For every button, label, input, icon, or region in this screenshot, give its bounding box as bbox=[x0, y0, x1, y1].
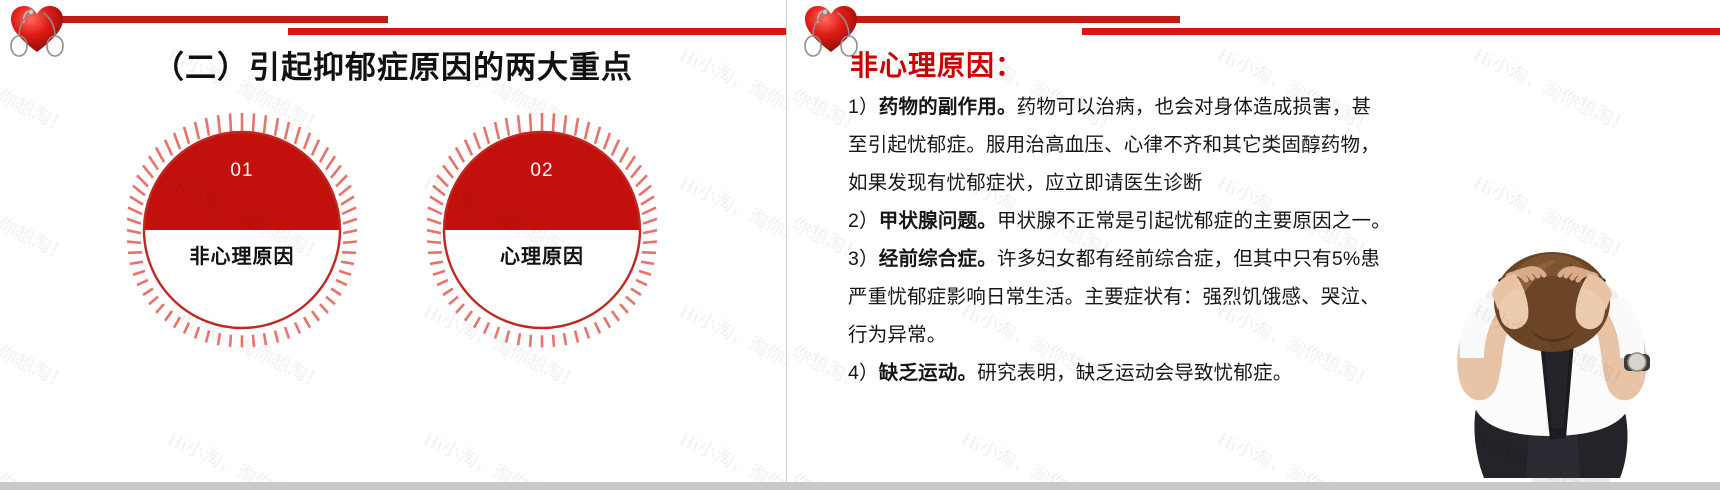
body-text-run: 药物可以治病，也会对身体造成损害，甚 bbox=[1017, 96, 1372, 118]
watermark-text: Hi小淘，淘你想淘！ bbox=[1214, 424, 1380, 482]
watermark-text: Hi小淘，淘你想淘！ bbox=[676, 424, 786, 482]
list-marker: 3） bbox=[848, 248, 879, 270]
watermark-text: Hi小淘，淘你想淘！ bbox=[676, 296, 786, 395]
circle-02-label: 心理原因 bbox=[412, 240, 672, 269]
circle-card-01[interactable]: 01 非心理原因 bbox=[112, 108, 372, 368]
stressed-man-photo bbox=[1380, 230, 1720, 482]
circle-01-graphic bbox=[112, 108, 372, 368]
watermark-text: Hi小淘，淘你想淘！ bbox=[0, 168, 74, 267]
body-line: 如果发现有忧郁症状，应立即请医生诊断 bbox=[848, 164, 1488, 202]
page-title: （二）引起抑郁症原因的两大重点 bbox=[0, 42, 786, 87]
slide-left: （二）引起抑郁症原因的两大重点 bbox=[0, 0, 786, 482]
header-bar-bottom bbox=[288, 28, 786, 35]
body-text-run: 行为异常。 bbox=[848, 324, 947, 346]
list-marker: 2） bbox=[848, 210, 879, 232]
slide-pair-view: （二）引起抑郁症原因的两大重点 bbox=[0, 0, 1720, 490]
emphasis-text: 甲状腺问题。 bbox=[879, 210, 997, 232]
list-marker: 4） bbox=[848, 362, 879, 384]
body-text-run: 如果发现有忧郁症状，应立即请医生诊断 bbox=[848, 172, 1203, 194]
circle-02-graphic bbox=[412, 108, 672, 368]
body-text-run: 甲状腺不正常是引起忧郁症的主要原因之一。 bbox=[997, 210, 1391, 232]
circle-01-label: 非心理原因 bbox=[112, 240, 372, 269]
body-text-run: 至引起忧郁症。服用治高血压、心律不齐和其它类固醇药物， bbox=[848, 134, 1380, 156]
watermark-text: Hi小淘，淘你想淘！ bbox=[794, 424, 868, 482]
emphasis-text: 经前综合症。 bbox=[879, 248, 997, 270]
body-line: 至引起忧郁症。服用治高血压、心律不齐和其它类固醇药物， bbox=[848, 126, 1488, 164]
watermark-text: Hi小淘，淘你想淘！ bbox=[420, 424, 586, 482]
body-text-run: 许多妇女都有经前综合症，但其中只有5%患 bbox=[997, 248, 1380, 270]
watermark-text: Hi小淘，淘你想淘！ bbox=[0, 296, 74, 395]
list-marker: 1） bbox=[848, 96, 879, 118]
header-bar-top bbox=[58, 16, 388, 23]
bottom-rule bbox=[0, 482, 1720, 490]
watermark-text: Hi小淘，淘你想淘！ bbox=[958, 424, 1124, 482]
circle-02-number: 02 bbox=[412, 160, 672, 182]
slide-right: 非心理原因： 1）药物的副作用。药物可以治病，也会对身体造成损害，甚至引起忧郁症… bbox=[794, 0, 1720, 482]
circle-01-number: 01 bbox=[112, 160, 372, 182]
emphasis-text: 药物的副作用。 bbox=[879, 96, 1017, 118]
header-bar-bottom-right bbox=[1082, 28, 1720, 35]
emphasis-text: 缺乏运动。 bbox=[879, 362, 978, 384]
watermark-text: Hi小淘，淘你想淘！ bbox=[676, 168, 786, 267]
circle-card-02[interactable]: 02 心理原因 bbox=[412, 108, 672, 368]
header-bar-top-right bbox=[850, 16, 1180, 23]
watermark-text: Hi小淘，淘你想淘！ bbox=[0, 424, 74, 482]
body-line: 1）药物的副作用。药物可以治病，也会对身体造成损害，甚 bbox=[848, 88, 1488, 126]
body-text-run: 严重忧郁症影响日常生活。主要症状有：强烈饥饿感、哭泣、 bbox=[848, 286, 1380, 308]
section-title: 非心理原因： bbox=[850, 44, 1024, 84]
body-text-run: 研究表明，缺乏运动会导致忧郁症。 bbox=[977, 362, 1292, 384]
watermark-text: Hi小淘，淘你想淘！ bbox=[164, 424, 330, 482]
